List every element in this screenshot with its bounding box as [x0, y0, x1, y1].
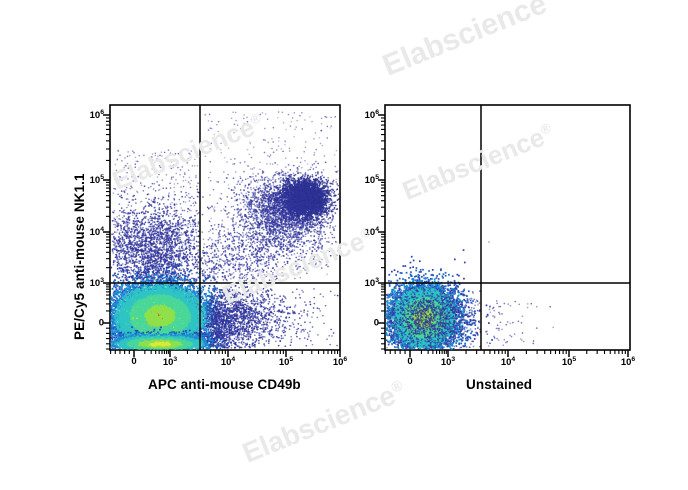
- left-plot-y-tick-0: 0: [78, 318, 104, 329]
- left-plot-y-tick-1e4: 104: [78, 226, 104, 238]
- left-plot-x-axis-title: APC anti-mouse CD49b: [148, 377, 301, 392]
- right-plot-x-tick-1e3: 103: [441, 356, 455, 368]
- right-plot-x-tick-0: 0: [407, 356, 412, 367]
- left-plot-x-tick-0: 0: [131, 356, 136, 367]
- left-plot-y-tick-1e3: 103: [78, 277, 104, 289]
- flow-cytometry-figure: PE/Cy5 anti-mouse NK1.1 APC anti-mouse C…: [0, 0, 688, 490]
- left-plot-x-tick-1e3: 103: [163, 356, 177, 368]
- right-plot-y-tick-1e6: 106: [353, 109, 379, 121]
- right-plot-x-tick-1e4: 104: [501, 356, 515, 368]
- right-plot-y-tick-1e4: 104: [353, 226, 379, 238]
- right-plot-y-tick-0: 0: [353, 318, 379, 329]
- right-plot-x-tick-1e6: 106: [621, 356, 635, 368]
- left-plot-x-tick-1e4: 104: [221, 356, 235, 368]
- right-plot-x-axis-title: Unstained: [466, 377, 532, 392]
- right-plot-x-tick-1e5: 105: [562, 356, 576, 368]
- left-plot-y-tick-1e5: 105: [78, 174, 104, 186]
- plots-canvas: [0, 0, 688, 490]
- right-plot-y-tick-1e5: 105: [353, 174, 379, 186]
- left-plot-y-axis-title: PE/Cy5 anti-mouse NK1.1: [72, 173, 87, 340]
- left-plot-x-tick-1e5: 105: [279, 356, 293, 368]
- left-plot-x-tick-1e6: 106: [333, 356, 347, 368]
- right-plot-y-tick-1e3: 103: [353, 277, 379, 289]
- left-plot-y-tick-1e6: 106: [78, 109, 104, 121]
